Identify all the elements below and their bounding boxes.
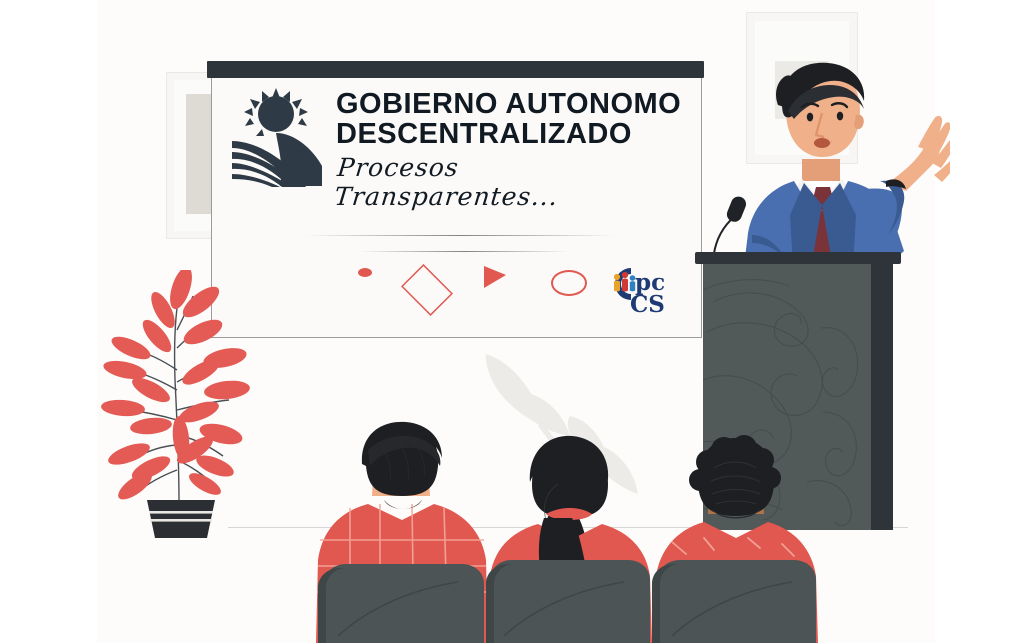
attendee-center xyxy=(486,432,654,643)
potted-plant xyxy=(95,270,265,540)
attendee-right xyxy=(652,434,820,643)
illustration-canvas: GOBIERNO AUTONOMO DESCENTRALIZADO Proces… xyxy=(0,0,1035,643)
triangle-shape xyxy=(484,266,506,288)
presenter-head xyxy=(776,63,864,157)
podium-top-surface xyxy=(695,252,901,264)
headline-line-2: DESCENTRALIZADO xyxy=(336,120,688,150)
sun-over-hills-emblem xyxy=(232,86,332,191)
attendee-left xyxy=(316,420,491,643)
projector-screen: GOBIERNO AUTONOMO DESCENTRALIZADO Proces… xyxy=(211,78,702,338)
cpccs-logo: pc CS xyxy=(605,260,679,318)
rule-top xyxy=(305,235,615,236)
ellipse-shape xyxy=(551,270,587,296)
diamond-shape xyxy=(401,264,453,316)
raised-arm xyxy=(888,116,950,191)
headline-line-1: GOBIERNO AUTONOMO xyxy=(336,90,688,120)
projector-screen-headrail xyxy=(207,61,704,78)
svg-text:CS: CS xyxy=(630,291,665,318)
slide-tagline: Procesos Transparentes... xyxy=(333,153,691,211)
slide-headline: GOBIERNO AUTONOMO DESCENTRALIZADO Proces… xyxy=(336,90,688,211)
rule-bottom xyxy=(360,251,570,252)
dot-shape xyxy=(358,268,372,277)
podium-side xyxy=(871,262,893,530)
